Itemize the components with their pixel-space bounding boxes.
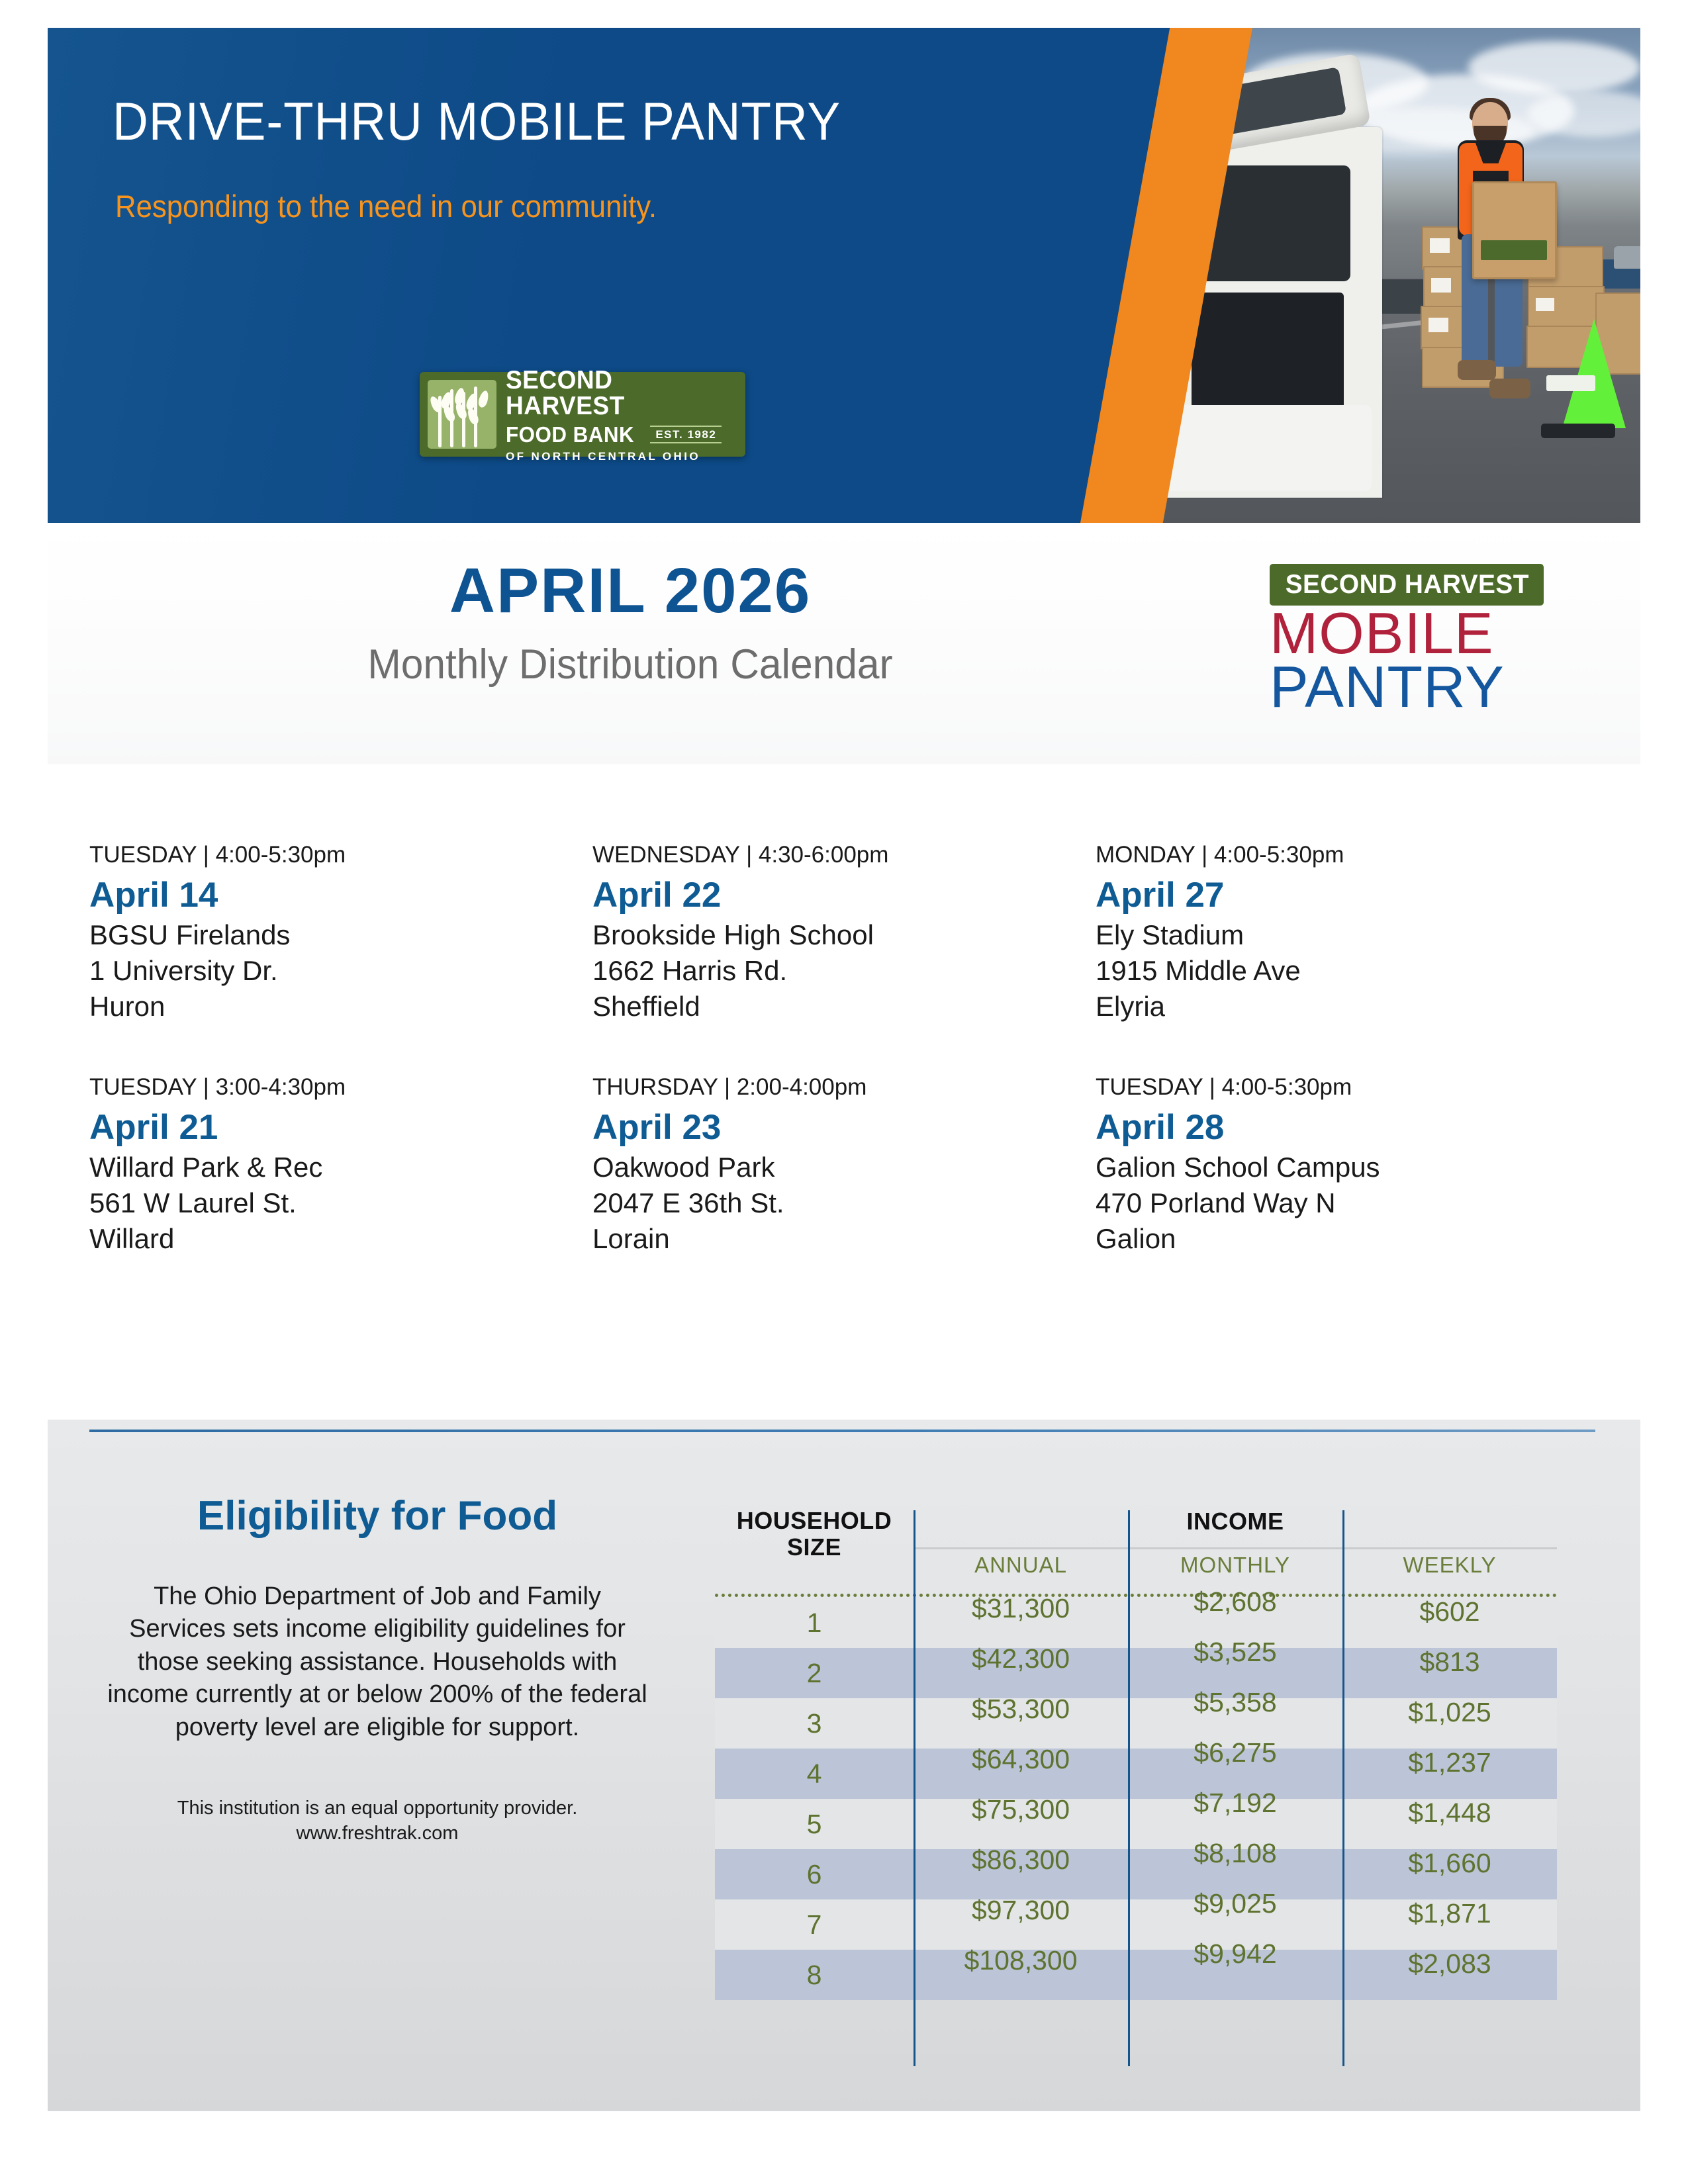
mobile-pantry-word-pantry: PANTRY — [1270, 660, 1601, 714]
income-header: INCOME — [914, 1508, 1557, 1535]
cell-monthly: $9,942 — [1128, 1938, 1342, 2011]
event-card: TUESDAY | 3:00-4:30pm April 21 Willard P… — [89, 1074, 592, 1255]
event-card: WEDNESDAY | 4:30-6:00pm April 22 Brooksi… — [592, 842, 1096, 1023]
event-venue: Brookside High School — [592, 919, 1076, 951]
event-address: 1 University Dr. — [89, 955, 573, 987]
cell-household-size: 5 — [715, 1809, 914, 1840]
calendar-title-block: APRIL 2026 Monthly Distribution Calendar — [48, 529, 1213, 761]
eligibility-body: The Ohio Department of Job and Family Se… — [89, 1580, 665, 1744]
cell-household-size: 8 — [715, 1960, 914, 1991]
cell-household-size: 3 — [715, 1708, 914, 1739]
event-city: Sheffield — [592, 991, 1076, 1023]
logo-line-3: OF NORTH CENTRAL OHIO — [506, 451, 745, 462]
event-city: Elyria — [1096, 991, 1579, 1023]
column-header-monthly: MONTHLY — [1128, 1553, 1342, 1578]
event-when: MONDAY | 4:00-5:30pm — [1096, 842, 1579, 868]
event-address: 470 Porland Way N — [1096, 1187, 1579, 1219]
distribution-events: TUESDAY | 4:00-5:30pm April 14 BGSU Fire… — [89, 842, 1599, 1255]
cell-weekly: $1,237 — [1342, 1747, 1557, 1800]
column-header-weekly: WEEKLY — [1342, 1553, 1557, 1578]
event-date: April 23 — [592, 1107, 1076, 1148]
cell-household-size: 2 — [715, 1658, 914, 1689]
event-when: WEDNESDAY | 4:30-6:00pm — [592, 842, 1076, 868]
logo-line-2: FOOD BANK — [506, 424, 634, 445]
event-date: April 22 — [592, 875, 1076, 915]
household-size-header-label: HOUSEHOLD SIZE — [737, 1507, 892, 1561]
income-header-rule — [914, 1547, 1557, 1549]
logo-line-1: SECOND HARVEST — [506, 367, 733, 419]
cell-household-size: 6 — [715, 1859, 914, 1890]
event-city: Willard — [89, 1223, 573, 1255]
event-venue: Willard Park & Rec — [89, 1152, 573, 1183]
eligibility-heading: Eligibility for Food — [89, 1492, 665, 1539]
event-when: TUESDAY | 3:00-4:30pm — [89, 1074, 573, 1101]
event-city: Lorain — [592, 1223, 1076, 1255]
cell-weekly: $2,083 — [1342, 1948, 1557, 2001]
cell-weekly: $1,448 — [1342, 1797, 1557, 1850]
header-banner: DRIVE-THRU MOBILE PANTRY Responding to t… — [48, 28, 1640, 523]
mobile-pantry-badge: SECOND HARVEST — [1270, 564, 1544, 606]
event-when: TUESDAY | 4:00-5:30pm — [89, 842, 573, 868]
event-date: April 14 — [89, 875, 573, 915]
event-date: April 21 — [89, 1107, 573, 1148]
month-title: APRIL 2026 — [48, 555, 1213, 627]
table-body: 1 $31,300 $2,608 $602 2 $42,300 $3,525 $… — [715, 1598, 1557, 2000]
event-address: 1915 Middle Ave — [1096, 955, 1579, 987]
event-venue: Ely Stadium — [1096, 919, 1579, 951]
equal-opportunity-line: This institution is an equal opportunity… — [89, 1796, 665, 1821]
freshtrak-url: www.freshtrak.com — [89, 1821, 665, 1846]
mobile-pantry-word-mobile: MOBILE — [1270, 607, 1601, 660]
event-when: TUESDAY | 4:00-5:30pm — [1096, 1074, 1579, 1101]
table-vertical-rule — [914, 1510, 915, 2066]
event-city: Huron — [89, 991, 573, 1023]
event-venue: Oakwood Park — [592, 1152, 1076, 1183]
table-row: 8 $108,300 $9,942 $2,083 — [715, 1950, 1557, 2000]
event-city: Galion — [1096, 1223, 1579, 1255]
table-vertical-rule — [1342, 1510, 1344, 2066]
events-row-2: TUESDAY | 3:00-4:30pm April 21 Willard P… — [89, 1074, 1599, 1255]
event-date: April 28 — [1096, 1107, 1579, 1148]
event-venue: Galion School Campus — [1096, 1152, 1579, 1183]
events-row-1: TUESDAY | 4:00-5:30pm April 14 BGSU Fire… — [89, 842, 1599, 1023]
section-divider — [89, 1430, 1595, 1432]
second-harvest-food-bank-logo: SECOND HARVEST FOOD BANK EST. 1982 OF NO… — [420, 372, 745, 457]
event-date: April 27 — [1096, 875, 1579, 915]
cell-weekly: $1,871 — [1342, 1898, 1557, 1951]
header-title: DRIVE-THRU MOBILE PANTRY — [113, 91, 841, 153]
equal-opportunity-notice: This institution is an equal opportunity… — [89, 1796, 665, 1846]
cell-annual: $108,300 — [914, 1945, 1128, 2005]
event-venue: BGSU Firelands — [89, 919, 573, 951]
cell-weekly: $602 — [1342, 1596, 1557, 1649]
event-card: TUESDAY | 4:00-5:30pm April 14 BGSU Fire… — [89, 842, 592, 1023]
mobile-pantry-badge-label: SECOND HARVEST — [1286, 570, 1529, 600]
income-eligibility-table: HOUSEHOLD SIZE INCOME ANNUAL MONTHLY WEE… — [715, 1497, 1557, 1590]
cell-weekly: $813 — [1342, 1647, 1557, 1700]
wheat-icon — [428, 380, 496, 449]
event-when: THURSDAY | 2:00-4:00pm — [592, 1074, 1076, 1101]
event-card: TUESDAY | 4:00-5:30pm April 28 Galion Sc… — [1096, 1074, 1599, 1255]
logo-est-badge: EST. 1982 — [650, 426, 722, 443]
calendar-subtitle: Monthly Distribution Calendar — [71, 641, 1190, 688]
income-subheaders: ANNUAL MONTHLY WEEKLY — [914, 1553, 1557, 1578]
cell-household-size: 1 — [715, 1608, 914, 1639]
cell-weekly: $1,660 — [1342, 1848, 1557, 1901]
eligibility-section: Eligibility for Food The Ohio Department… — [89, 1492, 665, 1846]
event-address: 561 W Laurel St. — [89, 1187, 573, 1219]
header-subtitle: Responding to the need in our community. — [115, 188, 657, 224]
cell-household-size: 4 — [715, 1758, 914, 1790]
event-card: THURSDAY | 2:00-4:00pm April 23 Oakwood … — [592, 1074, 1096, 1255]
mobile-pantry-logo: SECOND HARVEST MOBILE PANTRY — [1270, 564, 1601, 741]
event-card: MONDAY | 4:00-5:30pm April 27 Ely Stadiu… — [1096, 842, 1599, 1023]
table-vertical-rule — [1128, 1510, 1130, 2066]
cell-weekly: $1,025 — [1342, 1697, 1557, 1750]
cell-household-size: 7 — [715, 1909, 914, 1940]
event-address: 2047 E 36th St. — [592, 1187, 1076, 1219]
table-header: HOUSEHOLD SIZE INCOME ANNUAL MONTHLY WEE… — [715, 1497, 1557, 1590]
event-address: 1662 Harris Rd. — [592, 955, 1076, 987]
column-header-annual: ANNUAL — [914, 1553, 1128, 1578]
flyer-page: DRIVE-THRU MOBILE PANTRY Responding to t… — [0, 0, 1688, 2184]
household-size-header: HOUSEHOLD SIZE — [715, 1508, 914, 1561]
